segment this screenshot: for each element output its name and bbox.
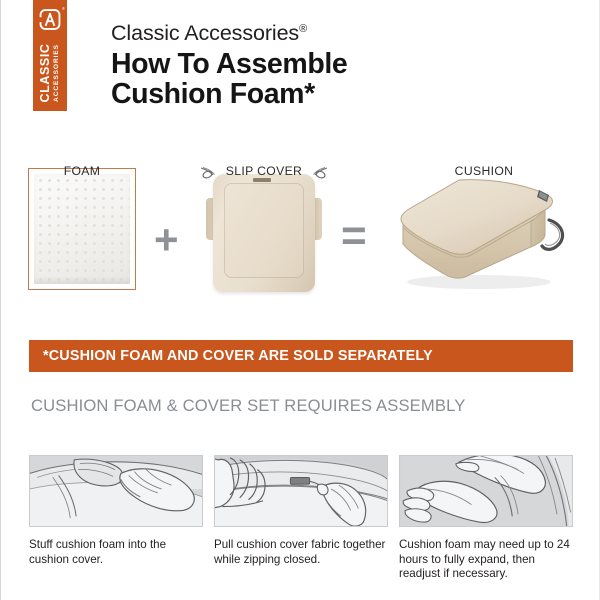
- page-title-line2: Cushion Foam*: [111, 77, 347, 111]
- header-text-block: Classic Accessories® How To Assemble Cus…: [111, 21, 347, 111]
- hands-zipping-cover-illustration: [214, 455, 388, 527]
- assembly-equation: FOAM +: [1, 164, 599, 319]
- cover-body: [213, 174, 315, 292]
- classic-accessories-a-monogram-icon: [40, 9, 61, 30]
- eq-label-foam: FOAM: [28, 164, 136, 178]
- assembled-cushion-icon: [399, 164, 569, 294]
- equals-operator: =: [341, 214, 367, 258]
- brand-name-text: Classic Accessories: [111, 21, 299, 45]
- registered-trademark-icon: ®: [62, 7, 65, 11]
- hands-adjusting-cushion-illustration: [399, 455, 573, 527]
- assembly-step: Cushion foam may need up to 24 hours to …: [399, 455, 573, 582]
- sold-separately-banner: *CUSHION FOAM AND COVER ARE SOLD SEPARAT…: [29, 340, 573, 372]
- slip-cover-icon: [199, 164, 329, 294]
- assembly-section-heading: CUSHION FOAM & COVER SET REQUIRES ASSEMB…: [31, 396, 465, 416]
- assembly-step: Pull cushion cover fabric together while…: [214, 455, 388, 582]
- step-caption: Stuff cushion foam into the cushion cove…: [29, 538, 203, 567]
- logo-line-accessories: ACCESSORIES: [52, 34, 61, 111]
- foam-pad-icon: [28, 168, 136, 290]
- brand-name: Classic Accessories®: [111, 21, 347, 45]
- hands-stuffing-foam-illustration: [29, 455, 203, 527]
- cover-zipper-pull-icon: [253, 178, 271, 182]
- step-caption: Pull cushion cover fabric together while…: [214, 538, 388, 567]
- plus-operator: +: [154, 219, 179, 261]
- assembly-steps: Stuff cushion foam into the cushion cove…: [29, 455, 573, 582]
- step-caption: Cushion foam may need up to 24 hours to …: [399, 538, 573, 582]
- page-title-line1: How To Assemble: [111, 47, 347, 81]
- cover-front-panel: [224, 183, 304, 278]
- eq-label-slip-cover: SLIP COVER: [189, 164, 339, 178]
- logo-line-classic: CLASSIC: [39, 34, 51, 111]
- eq-label-cushion: CUSHION: [399, 164, 569, 178]
- brand-logo: ® CLASSIC ACCESSORIES: [33, 0, 67, 111]
- banner-text: *CUSHION FOAM AND COVER ARE SOLD SEPARAT…: [43, 348, 433, 364]
- registered-superscript: ®: [299, 23, 307, 35]
- header: ® CLASSIC ACCESSORIES Classic Accessorie…: [1, 0, 599, 140]
- foam-texture: [34, 174, 130, 284]
- infographic-page: ® CLASSIC ACCESSORIES Classic Accessorie…: [0, 0, 600, 600]
- logo-wordmark: CLASSIC ACCESSORIES: [33, 34, 67, 111]
- assembly-step: Stuff cushion foam into the cushion cove…: [29, 455, 203, 582]
